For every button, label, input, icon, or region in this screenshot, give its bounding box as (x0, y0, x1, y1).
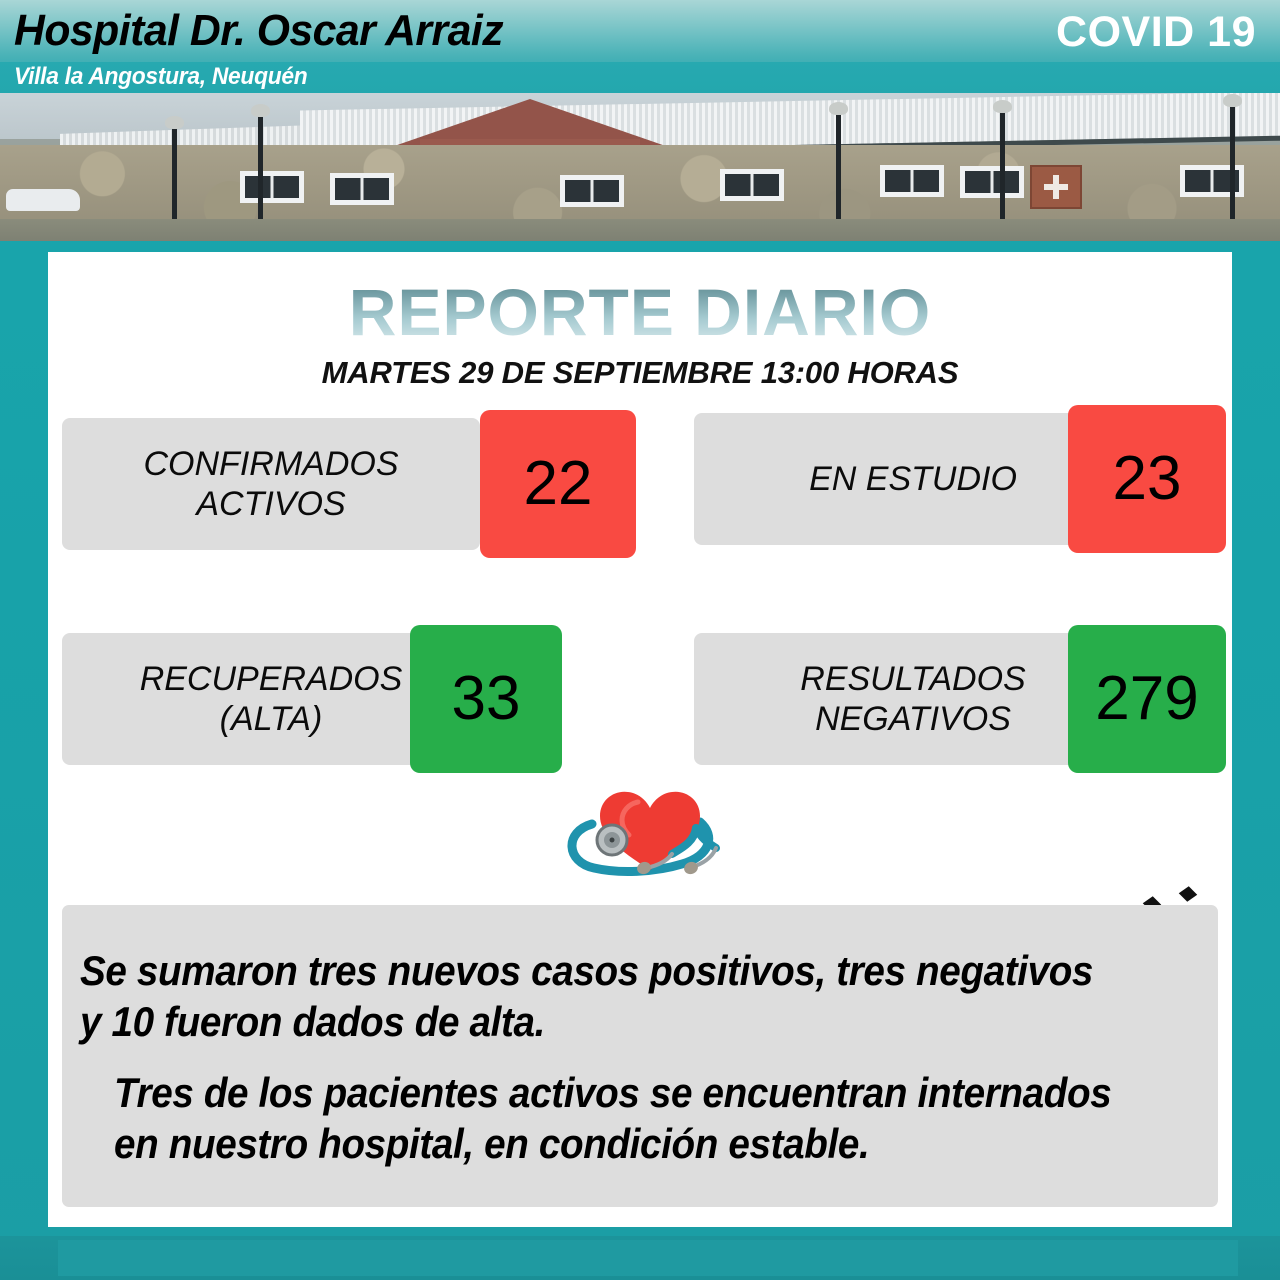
stat-card-en-estudio: EN ESTUDIO 23 (694, 405, 1226, 537)
building-window (560, 175, 624, 207)
stat-value: 23 (1113, 448, 1182, 510)
stat-value-box: 279 (1068, 625, 1226, 773)
stat-label-box: EN ESTUDIO (694, 413, 1132, 545)
hospital-name: Hospital Dr. Oscar Arraiz (14, 6, 503, 56)
building-window (880, 165, 944, 197)
page-title: REPORTE DIARIO (0, 274, 1280, 350)
lamp-post (836, 113, 841, 235)
stat-value: 33 (452, 668, 521, 730)
summary-note-box: Se sumaron tres nuevos casos positivos, … (62, 905, 1218, 1207)
report-date: MARTES 29 DE SEPTIEMBRE 13:00 HORAS (0, 355, 1280, 391)
building-window (960, 166, 1024, 198)
lamp-post (1000, 111, 1005, 235)
building-window (330, 173, 394, 205)
hospital-location: Villa la Angostura, Neuquén (14, 63, 307, 91)
footer-band-inner (58, 1240, 1238, 1276)
stat-label-box: RESULTADOS NEGATIVOS (694, 633, 1132, 765)
stat-label: RECUPERADOS (ALTA) (140, 659, 403, 739)
parked-car (6, 189, 80, 211)
stat-card-resultados-negativos: RESULTADOS NEGATIVOS 279 (694, 625, 1226, 757)
stat-value: 22 (524, 453, 593, 515)
hospital-photo (0, 93, 1280, 241)
ground-strip (0, 219, 1280, 241)
stat-card-recuperados-alta: RECUPERADOS (ALTA) 33 (62, 625, 574, 757)
stat-value-box: 33 (410, 625, 562, 773)
stat-value-box: 23 (1068, 405, 1226, 553)
building-window (720, 169, 784, 201)
covid-daily-report-poster: Hospital Dr. Oscar Arraiz COVID 19 Villa… (0, 0, 1280, 1280)
stat-value-box: 22 (480, 410, 636, 558)
stat-label: RESULTADOS NEGATIVOS (800, 659, 1025, 739)
stat-label: EN ESTUDIO (809, 459, 1017, 499)
lamp-post (1230, 105, 1235, 235)
stat-label: CONFIRMADOS ACTIVOS (144, 444, 399, 524)
building-window (240, 171, 304, 203)
stat-value: 279 (1095, 668, 1198, 730)
lamp-post (172, 127, 177, 233)
covid-badge: COVID 19 (1056, 8, 1256, 57)
heart-stethoscope-icon (560, 778, 740, 878)
stat-label-box: CONFIRMADOS ACTIVOS (62, 418, 480, 550)
stat-card-confirmados-activos: CONFIRMADOS ACTIVOS 22 (62, 410, 574, 542)
note-paragraph-1: Se sumaron tres nuevos casos positivos, … (80, 945, 1120, 1047)
red-cross-sign (1030, 165, 1082, 209)
lamp-post (258, 115, 263, 233)
note-paragraph-2: Tres de los pacientes activos se encuent… (114, 1067, 1126, 1169)
